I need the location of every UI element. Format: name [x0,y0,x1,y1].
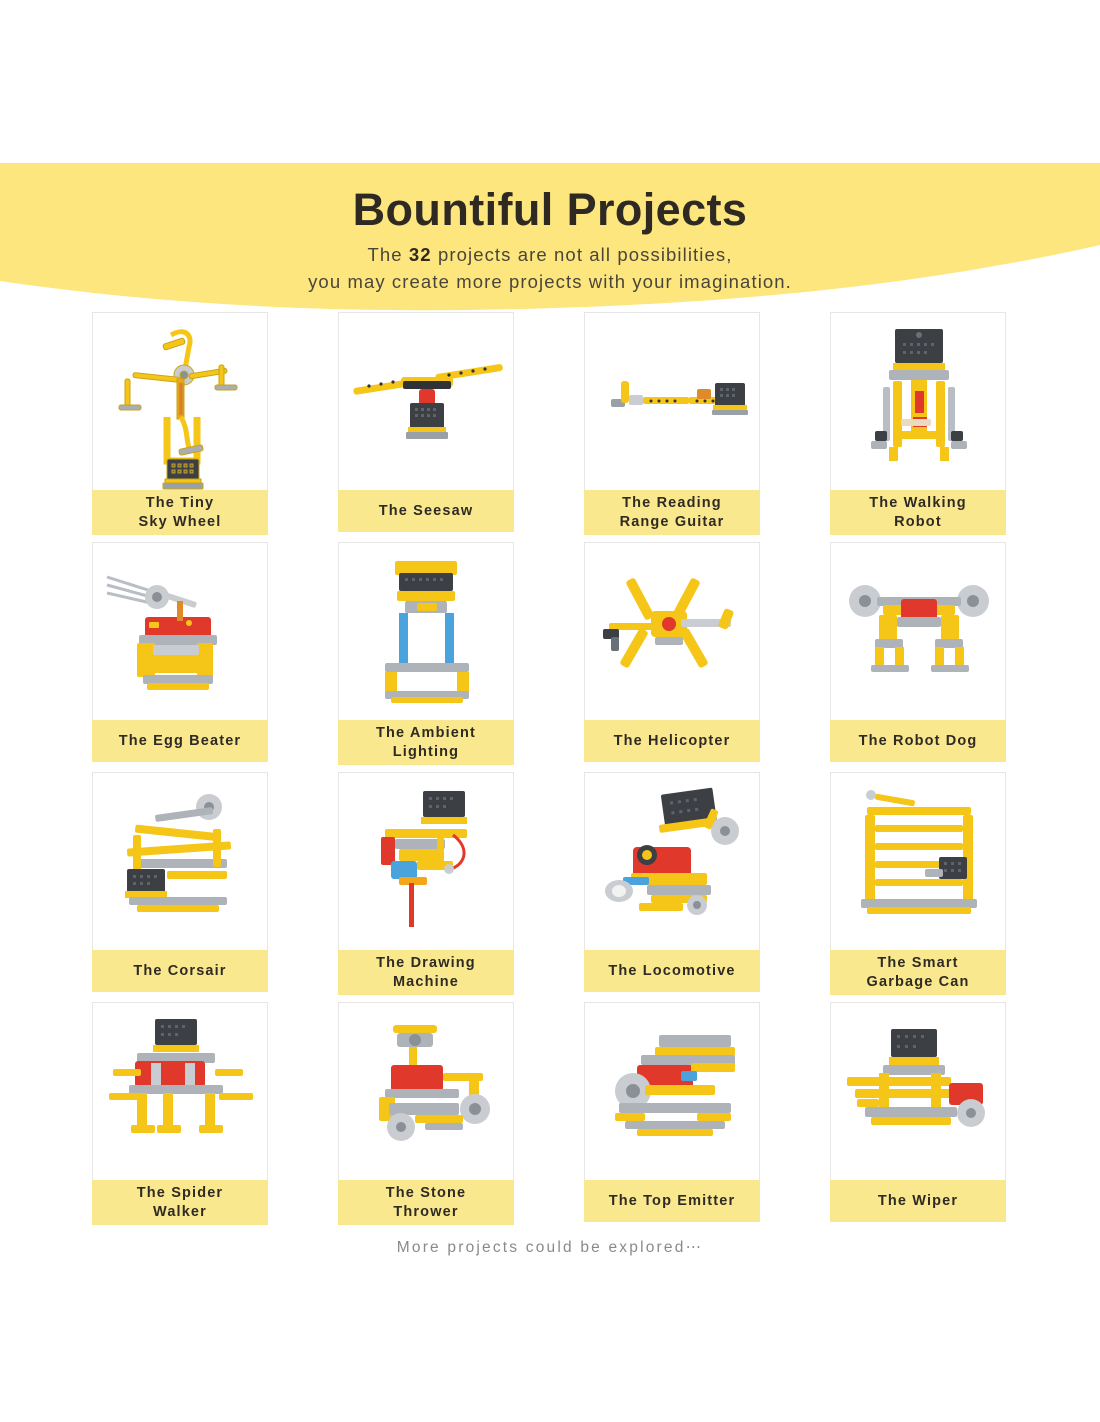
project-label: The Walking Robot [830,490,1006,535]
project-card[interactable]: The Robot Dog [830,542,1006,765]
project-card[interactable]: The Seesaw [338,312,514,535]
top-emitter-photo [584,1002,760,1180]
project-card[interactable]: The Smart Garbage Can [830,772,1006,995]
tiny-sky-wheel-photo [92,312,268,490]
project-label: The Helicopter [584,720,760,762]
walking-robot-photo [830,312,1006,490]
hero-project-count: 32 [409,244,432,265]
egg-beater-photo [92,542,268,720]
project-label: The Reading Range Guitar [584,490,760,535]
project-label: The Top Emitter [584,1180,760,1222]
project-label: The Robot Dog [830,720,1006,762]
project-label: The Tiny Sky Wheel [92,490,268,535]
hero-banner: Bountiful Projects The 32 projects are n… [0,163,1100,328]
helicopter-photo [584,542,760,720]
project-card[interactable]: The Stone Thrower [338,1002,514,1225]
project-card[interactable]: The Helicopter [584,542,760,765]
page-title: Bountiful Projects [0,185,1100,235]
hero-text-block: Bountiful Projects The 32 projects are n… [0,163,1100,295]
hero-subtitle-prefix: The [368,244,409,265]
project-label: The Spider Walker [92,1180,268,1225]
project-label: The Stone Thrower [338,1180,514,1225]
project-card[interactable]: The Walking Robot [830,312,1006,535]
stone-thrower-photo [338,1002,514,1180]
smart-garbage-can-photo [830,772,1006,950]
project-card[interactable]: The Ambient Lighting [338,542,514,765]
project-label: The Ambient Lighting [338,720,514,765]
project-grid: The Tiny Sky Wheel [92,312,1008,1225]
project-card[interactable]: The Spider Walker [92,1002,268,1225]
project-label: The Drawing Machine [338,950,514,995]
project-label: The Seesaw [338,490,514,532]
ambient-lighting-photo [338,542,514,720]
bountiful-projects-page: Bountiful Projects The 32 projects are n… [0,0,1100,1422]
project-card[interactable]: The Corsair [92,772,268,995]
project-label: The Locomotive [584,950,760,992]
corsair-photo [92,772,268,950]
project-card[interactable]: The Drawing Machine [338,772,514,995]
more-projects-note: More projects could be explored⋯ [0,1238,1100,1257]
project-card[interactable]: The Locomotive [584,772,760,995]
project-card[interactable]: The Reading Range Guitar [584,312,760,535]
project-card[interactable]: The Top Emitter [584,1002,760,1225]
robot-dog-photo [830,542,1006,720]
project-card[interactable]: The Tiny Sky Wheel [92,312,268,535]
seesaw-photo [338,312,514,490]
project-label: The Egg Beater [92,720,268,762]
hero-subtitle-line2: you may create more projects with your i… [308,271,792,292]
wiper-photo [830,1002,1006,1180]
hero-subtitle: The 32 projects are not all possibilitie… [0,242,1100,295]
locomotive-photo [584,772,760,950]
hero-subtitle-mid: projects are not all possibilities, [432,244,733,265]
project-card[interactable]: The Wiper [830,1002,1006,1225]
project-card[interactable]: The Egg Beater [92,542,268,765]
project-label: The Smart Garbage Can [830,950,1006,995]
reading-range-guitar-photo [584,312,760,490]
project-label: The Corsair [92,950,268,992]
drawing-machine-photo [338,772,514,950]
spider-walker-photo [92,1002,268,1180]
project-label: The Wiper [830,1180,1006,1222]
